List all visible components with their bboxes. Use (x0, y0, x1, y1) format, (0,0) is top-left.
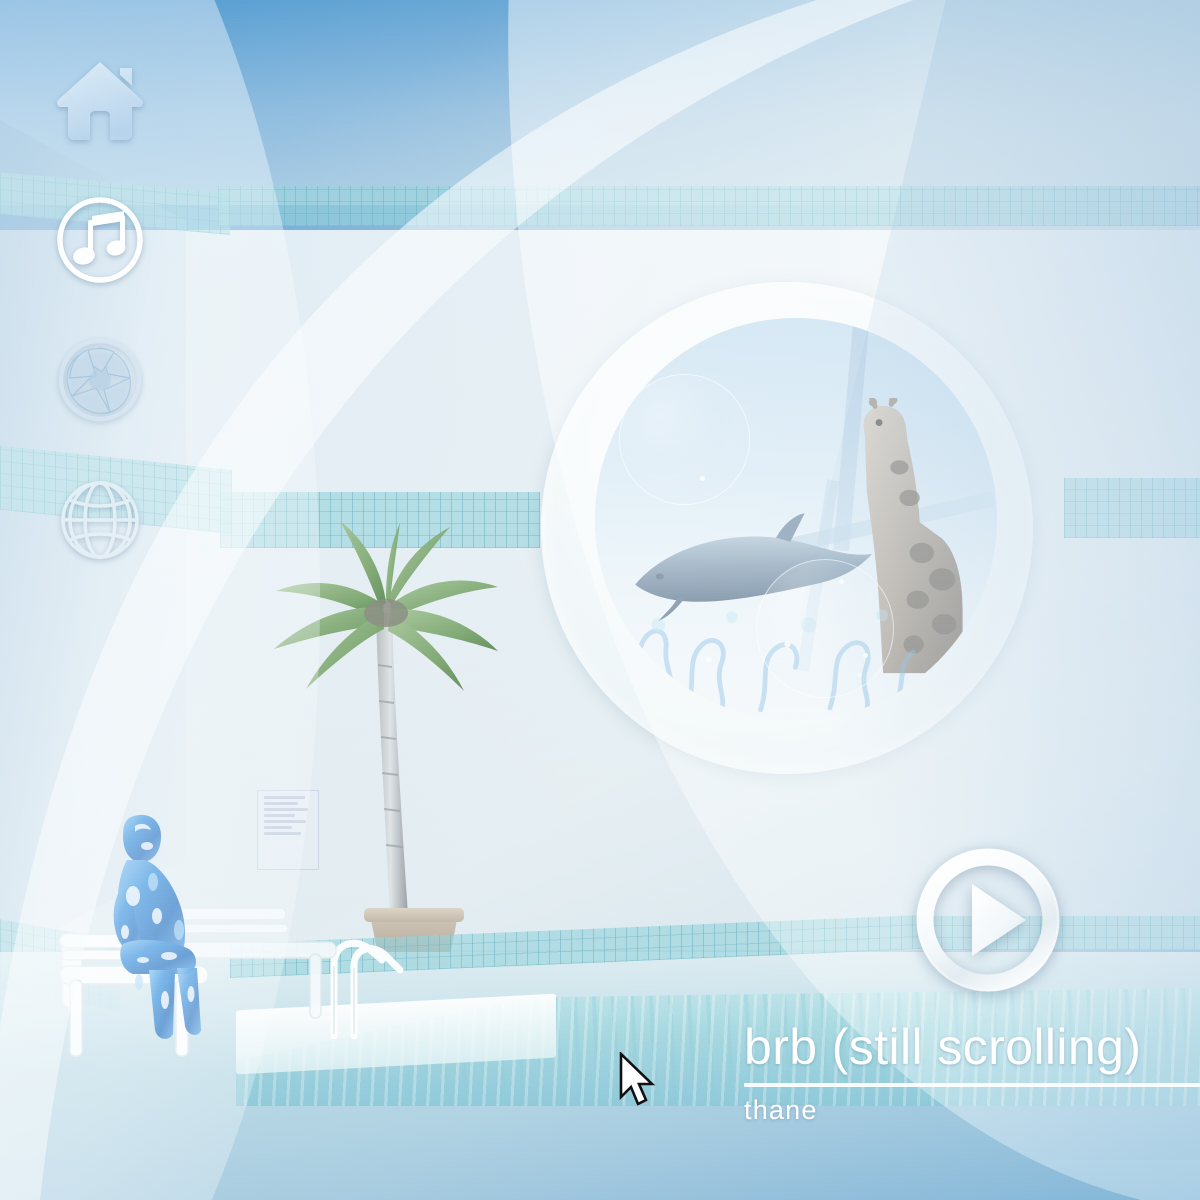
sidebar-nav (44, 44, 164, 604)
sidebar-item-home[interactable] (44, 44, 156, 156)
plant-pot-rim (364, 908, 464, 922)
pool-rules-sign (257, 790, 319, 870)
seated-figure (95, 812, 215, 1042)
globe-icon (54, 474, 146, 566)
tile-band (1064, 478, 1200, 538)
album-title: brb (still scrolling) (744, 1022, 1200, 1073)
arrow-cursor-icon (618, 1052, 660, 1108)
sidebar-item-music[interactable] (44, 184, 156, 296)
aperture-icon (54, 334, 146, 426)
title-divider (744, 1083, 1200, 1087)
play-icon (914, 846, 1062, 994)
home-icon (54, 54, 146, 146)
sidebar-item-photos[interactable] (44, 324, 156, 436)
music-note-icon (54, 194, 146, 286)
soap-bubble (619, 374, 750, 505)
tile-band (218, 186, 1200, 226)
play-button[interactable] (914, 846, 1062, 994)
porthole-window (595, 318, 997, 720)
ceiling-panel (0, 0, 1200, 205)
soap-bubble (756, 559, 895, 698)
album-title-block: brb (still scrolling) thane (744, 1022, 1200, 1126)
album-cover: brb (still scrolling) thane (0, 0, 1200, 1200)
artist-name: thane (744, 1095, 1200, 1126)
palm-tree (258, 495, 508, 965)
sidebar-item-web[interactable] (44, 464, 156, 576)
